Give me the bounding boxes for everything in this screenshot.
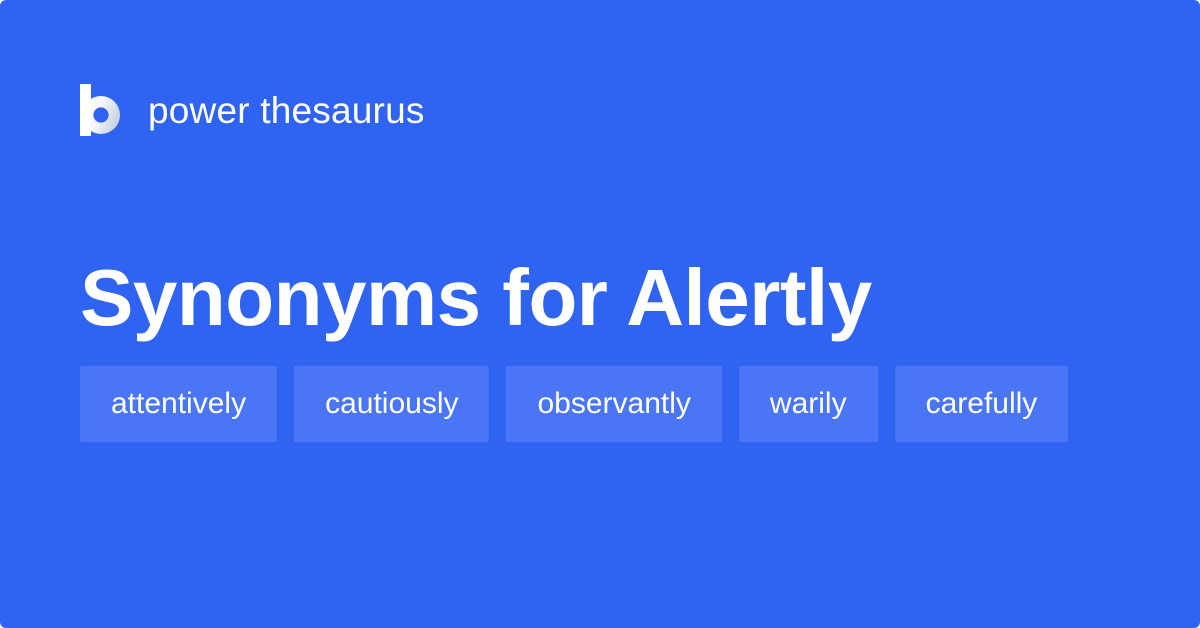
power-thesaurus-b-logo-icon: [80, 84, 120, 136]
synonym-tag[interactable]: carefully: [895, 366, 1069, 442]
brand-header[interactable]: power thesaurus: [80, 82, 425, 138]
brand-name: power thesaurus: [148, 92, 425, 129]
synonym-tag-list: attentively cautiously observantly waril…: [80, 366, 1140, 442]
synonym-tag[interactable]: attentively: [80, 366, 277, 442]
synonym-tag[interactable]: warily: [739, 366, 878, 442]
synonym-tag[interactable]: cautiously: [294, 366, 489, 442]
page-title: Synonyms for Alertly: [80, 250, 1120, 346]
synonym-tag[interactable]: observantly: [506, 366, 721, 442]
synonyms-card: power thesaurus Synonyms for Alertly att…: [0, 0, 1200, 628]
